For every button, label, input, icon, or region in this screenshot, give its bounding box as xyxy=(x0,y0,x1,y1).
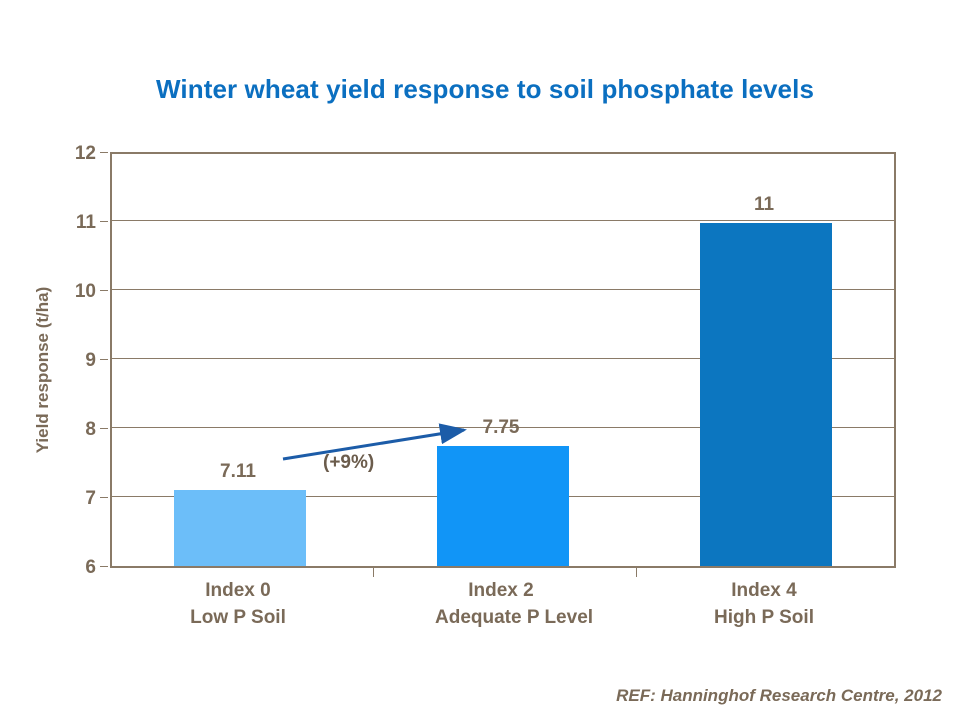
y-tick-mark-9 xyxy=(100,359,108,360)
x-category-line-2: High P Soil xyxy=(698,605,830,632)
y-tick-mark-6 xyxy=(100,566,108,567)
x-category-line-2: Adequate P Level xyxy=(435,605,567,632)
x-tick-mark-2 xyxy=(636,567,637,577)
y-tick-mark-11 xyxy=(100,221,108,222)
y-tick-mark-8 xyxy=(100,428,108,429)
plot-area xyxy=(110,152,896,568)
bar-index-2[interactable] xyxy=(437,446,569,566)
x-category-line-1: Index 4 xyxy=(698,578,830,605)
source-reference: REF: Hanninghof Research Centre, 2012 xyxy=(616,686,942,706)
x-category-line-1: Index 2 xyxy=(435,578,567,605)
bar-value-label-index-4: 11 xyxy=(698,195,830,214)
y-tick-label-10: 10 xyxy=(36,282,96,301)
bar-index-0[interactable] xyxy=(174,490,306,566)
y-tick-label-7: 7 xyxy=(36,489,96,508)
bar-index-4[interactable] xyxy=(700,223,832,566)
x-category-label-index-2: Index 2 Adequate P Level xyxy=(435,578,567,632)
y-tick-mark-12 xyxy=(100,152,108,153)
y-tick-label-8: 8 xyxy=(36,420,96,439)
bar-value-label-index-2: 7.75 xyxy=(435,418,567,437)
y-tick-label-11: 11 xyxy=(36,213,96,232)
y-tick-label-9: 9 xyxy=(36,351,96,370)
y-tick-label-12: 12 xyxy=(36,144,96,163)
x-category-label-index-4: Index 4 High P Soil xyxy=(698,578,830,632)
x-tick-mark-1 xyxy=(373,567,374,577)
x-category-line-2: Low P Soil xyxy=(172,605,304,632)
y-tick-mark-10 xyxy=(100,290,108,291)
y-tick-mark-7 xyxy=(100,497,108,498)
page-title: Winter wheat yield response to soil phos… xyxy=(0,74,960,105)
bar-value-label-index-0: 7.11 xyxy=(172,462,304,481)
y-tick-label-6: 6 xyxy=(36,558,96,577)
x-category-line-1: Index 0 xyxy=(172,578,304,605)
x-category-label-index-0: Index 0 Low P Soil xyxy=(172,578,304,632)
x-axis-labels: Index 0 Low P Soil Index 2 Adequate P Le… xyxy=(110,578,896,644)
bars-layer xyxy=(112,154,894,566)
